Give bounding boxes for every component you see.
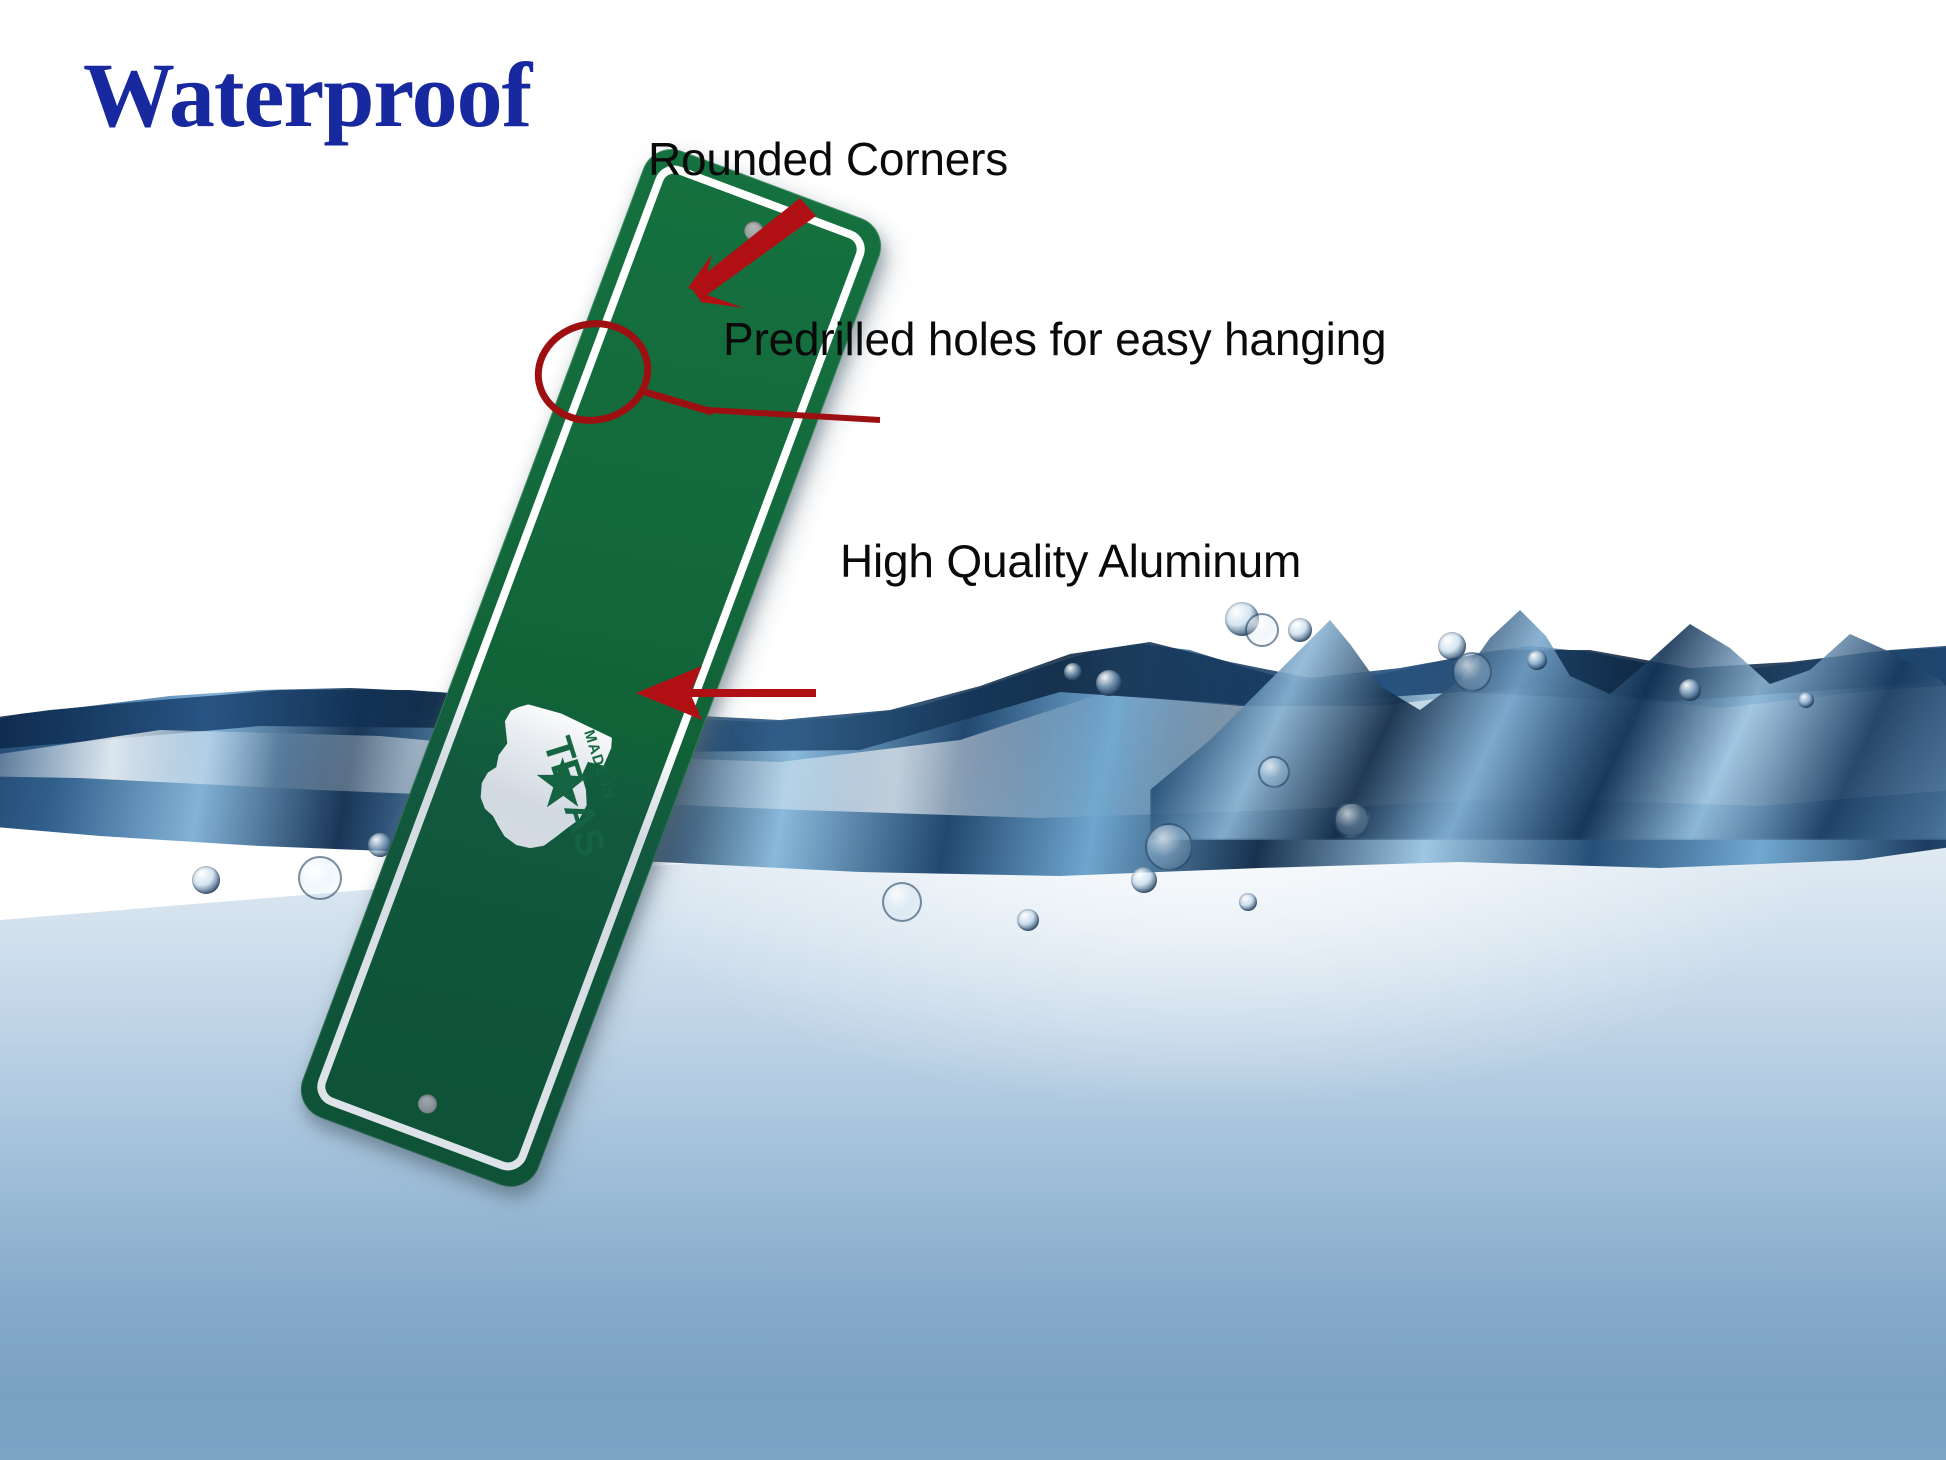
callout-layer: Rounded Corners Predrilled holes for eas…: [0, 0, 1946, 1460]
product-feature-graphic: MADE IN TE AS Waterproof: [0, 0, 1946, 1460]
page-title: Waterproof: [83, 47, 531, 144]
rounded-corners-arrow-icon: [688, 198, 816, 308]
callout-label-predrilled-holes: Predrilled holes for easy hanging: [723, 312, 1386, 366]
high-quality-aluminum-arrow-icon: [636, 666, 816, 720]
callout-label-high-quality-aluminum: High Quality Aluminum: [840, 534, 1301, 588]
callout-lines-and-arrows: [0, 0, 1946, 1460]
callout-label-rounded-corners: Rounded Corners: [648, 132, 1008, 186]
